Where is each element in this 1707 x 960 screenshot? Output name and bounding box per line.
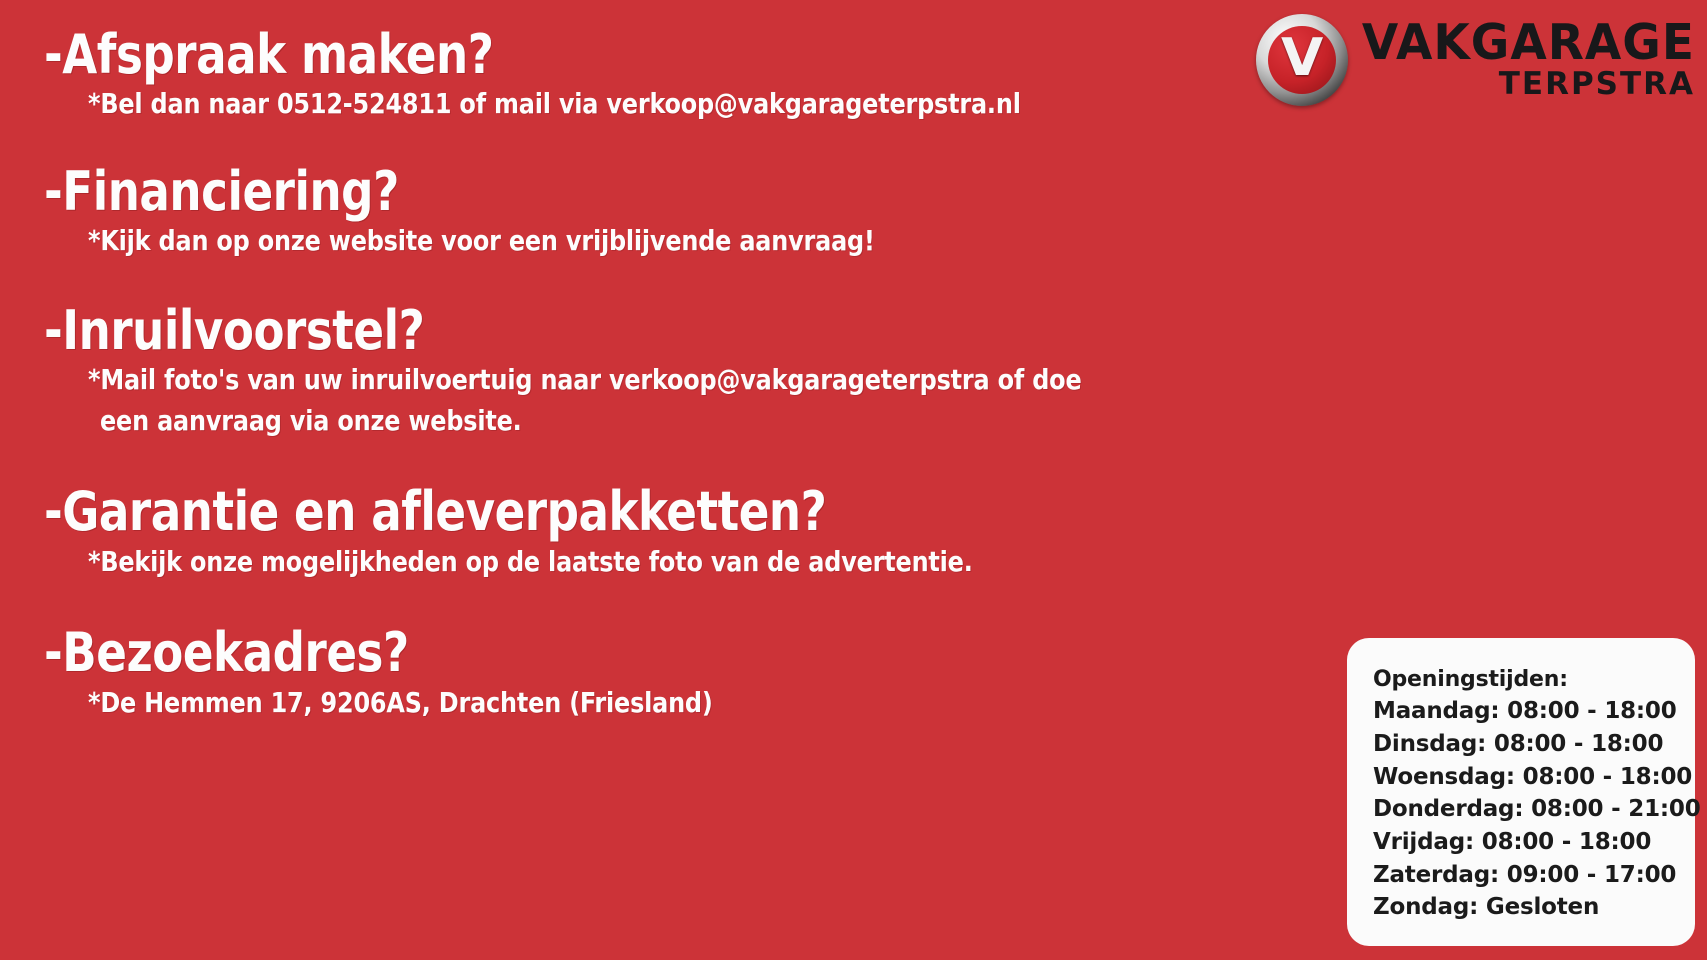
logo-wordmark: VAKGARAGE TERPSTRA xyxy=(1362,19,1695,100)
section-line-afspraak-1: *Bel dan naar 0512-524811 of mail via ve… xyxy=(88,84,1281,125)
section-line-inruilvoorstel-1: *Mail foto's van uw inruilvoertuig naar … xyxy=(88,360,1281,401)
section-afspraak: -Afspraak maken? *Bel dan naar 0512-5248… xyxy=(44,26,1344,125)
section-line-financiering-1: *Kijk dan op onze website voor een vrijb… xyxy=(88,221,1281,262)
logo-dealer-name: TERPSTRA xyxy=(1499,68,1695,101)
section-heading-financiering: -Financiering? xyxy=(44,163,1253,221)
section-line-bezoekadres-1: *De Hemmen 17, 9206AS, Drachten (Friesla… xyxy=(88,683,1281,724)
section-garantie: -Garantie en afleverpakketten? *Bekijk o… xyxy=(44,483,1344,582)
opening-hours-row-maandag: Maandag: 08:00 - 18:00 xyxy=(1373,695,1673,728)
opening-hours-row-vrijdag: Vrijdag: 08:00 - 18:00 xyxy=(1373,826,1673,859)
section-heading-afspraak: -Afspraak maken? xyxy=(44,26,1253,84)
logo-letter-v: V xyxy=(1281,32,1323,84)
opening-hours-row-donderdag: Donderdag: 08:00 - 21:00 xyxy=(1373,793,1673,826)
section-financiering: -Financiering? *Kijk dan op onze website… xyxy=(44,163,1344,262)
section-heading-inruilvoorstel: -Inruilvoorstel? xyxy=(44,302,1253,360)
advertisement-banner: V VAKGARAGE TERPSTRA -Afspraak maken? *B… xyxy=(0,0,1707,960)
section-line-garantie-1: *Bekijk onze mogelijkheden op de laatste… xyxy=(88,542,1281,583)
opening-hours-row-zaterdag: Zaterdag: 09:00 - 17:00 xyxy=(1373,859,1673,892)
logo-brand-name: VAKGARAGE xyxy=(1362,18,1695,68)
opening-hours-row-woensdag: Woensdag: 08:00 - 18:00 xyxy=(1373,761,1673,794)
opening-hours-row-zondag: Zondag: Gesloten xyxy=(1373,891,1673,924)
section-heading-bezoekadres: -Bezoekadres? xyxy=(44,624,1253,682)
info-sections: -Afspraak maken? *Bel dan naar 0512-5248… xyxy=(44,26,1344,731)
section-inruilvoorstel: -Inruilvoorstel? *Mail foto's van uw inr… xyxy=(44,302,1344,442)
opening-hours-title: Openingstijden: xyxy=(1373,664,1673,695)
section-bezoekadres: -Bezoekadres? *De Hemmen 17, 9206AS, Dra… xyxy=(44,624,1344,723)
opening-hours-row-dinsdag: Dinsdag: 08:00 - 18:00 xyxy=(1373,728,1673,761)
section-line-inruilvoorstel-2: een aanvraag via onze website. xyxy=(100,401,1282,442)
opening-hours-card: Openingstijden: Maandag: 08:00 - 18:00 D… xyxy=(1347,638,1695,946)
section-heading-garantie: -Garantie en afleverpakketten? xyxy=(44,483,1253,541)
